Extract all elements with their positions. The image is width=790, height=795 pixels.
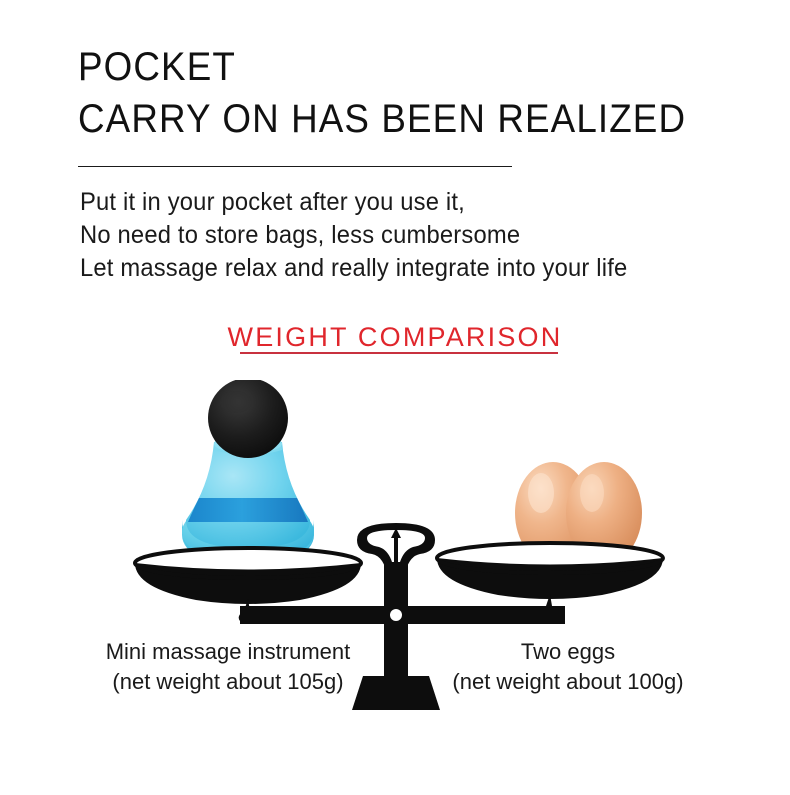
- section-heading: WEIGHT COMPARISON: [0, 322, 790, 353]
- caption-left-weight: (net weight about 105g): [78, 667, 378, 697]
- body-copy-line-3: Let massage relax and really integrate i…: [80, 252, 736, 285]
- caption-left-title: Mini massage instrument: [78, 637, 378, 667]
- caption-right-title: Two eggs: [418, 637, 718, 667]
- headline-line-1: POCKET: [78, 44, 685, 90]
- headline-line-2: CARRY ON HAS BEEN REALIZED: [78, 96, 685, 142]
- body-copy-line-1: Put it in your pocket after you use it,: [80, 186, 736, 219]
- page-title: POCKET CARRY ON HAS BEEN REALIZED: [78, 44, 685, 142]
- massage-device-graphic: [178, 380, 322, 575]
- body-copy: Put it in your pocket after you use it, …: [80, 186, 736, 285]
- product-promo-page: POCKET CARRY ON HAS BEEN REALIZED Put it…: [0, 0, 790, 795]
- body-copy-line-2: No need to store bags, less cumbersome: [80, 219, 736, 252]
- caption-right-weight: (net weight about 100g): [418, 667, 718, 697]
- section-heading-underline: [240, 352, 558, 354]
- caption-right: Two eggs (net weight about 100g): [418, 637, 718, 697]
- scale-pivot-dot: [390, 609, 402, 621]
- caption-left: Mini massage instrument (net weight abou…: [78, 637, 378, 697]
- title-divider: [78, 166, 512, 167]
